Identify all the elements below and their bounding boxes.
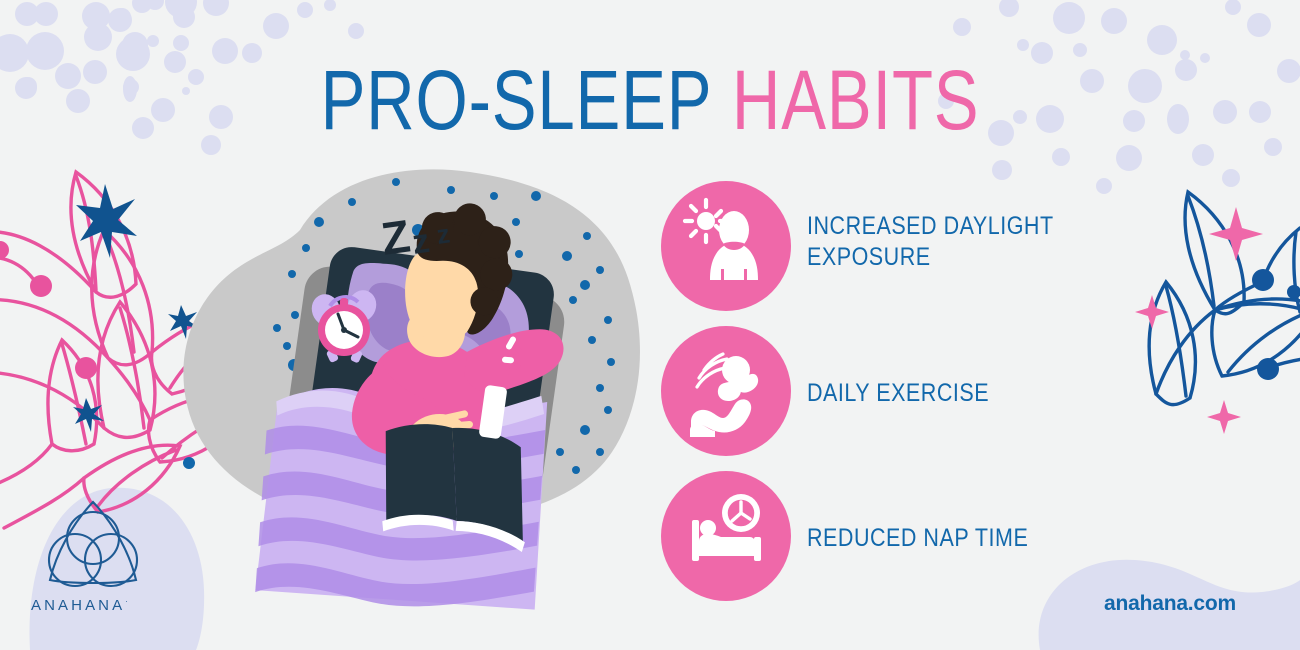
habit-label-daylight: INCREASED DAYLIGHT EXPOSURE <box>807 211 1054 272</box>
logo-wordmark: ANAHANA· <box>31 597 128 614</box>
habit-badge-exercise <box>661 326 791 456</box>
title-part-habits: HABITS <box>732 53 980 147</box>
triquetra-logo-icon <box>44 494 142 590</box>
habit-list: INCREASED DAYLIGHT EXPOSURE <box>661 181 1131 616</box>
page-title: PRO-SLEEP HABITS <box>130 58 1170 142</box>
habit-badge-daylight <box>661 181 791 311</box>
sun-person-icon <box>661 181 791 311</box>
situp-exercise-icon <box>661 326 791 456</box>
habit-item-exercise[interactable]: DAILY EXERCISE <box>661 326 1131 471</box>
title-part-pro-sleep: PRO-SLEEP <box>321 53 713 147</box>
habit-badge-nap <box>661 471 791 601</box>
habit-label-nap: REDUCED NAP TIME <box>807 523 1028 554</box>
habit-item-daylight[interactable]: INCREASED DAYLIGHT EXPOSURE <box>661 181 1131 326</box>
trademark-mark: · <box>125 597 128 606</box>
habit-label-exercise: DAILY EXERCISE <box>807 378 989 409</box>
habit-item-nap[interactable]: REDUCED NAP TIME <box>661 471 1131 616</box>
website-url[interactable]: anahana.com <box>1104 592 1236 616</box>
bed-clock-icon <box>661 471 791 601</box>
infographic-canvas: Z z z PRO-SLEEP HABITS <box>0 0 1300 650</box>
